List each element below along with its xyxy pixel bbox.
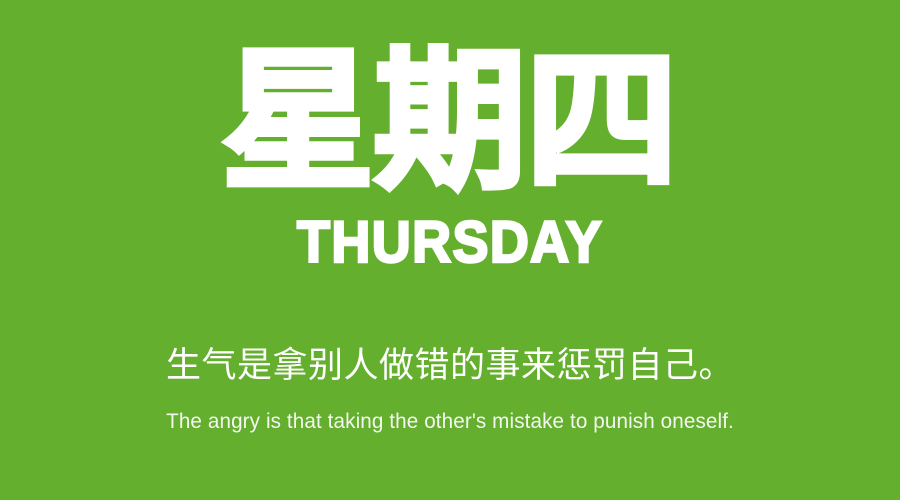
day-name-english: THURSDAY: [32, 214, 869, 272]
day-title-block: 星期四 THURSDAY: [0, 46, 900, 272]
daily-quote-card: 星期四 THURSDAY 生气是拿别人做错的事来惩罚自己。 The angry …: [0, 0, 900, 500]
quote-text-english: The angry is that taking the other's mis…: [7, 409, 894, 435]
quote-block: 生气是拿别人做错的事来惩罚自己。 The angry is that takin…: [0, 345, 900, 435]
day-name-chinese: 星期四: [0, 46, 900, 198]
quote-text-chinese: 生气是拿别人做错的事来惩罚自己。: [0, 345, 900, 387]
